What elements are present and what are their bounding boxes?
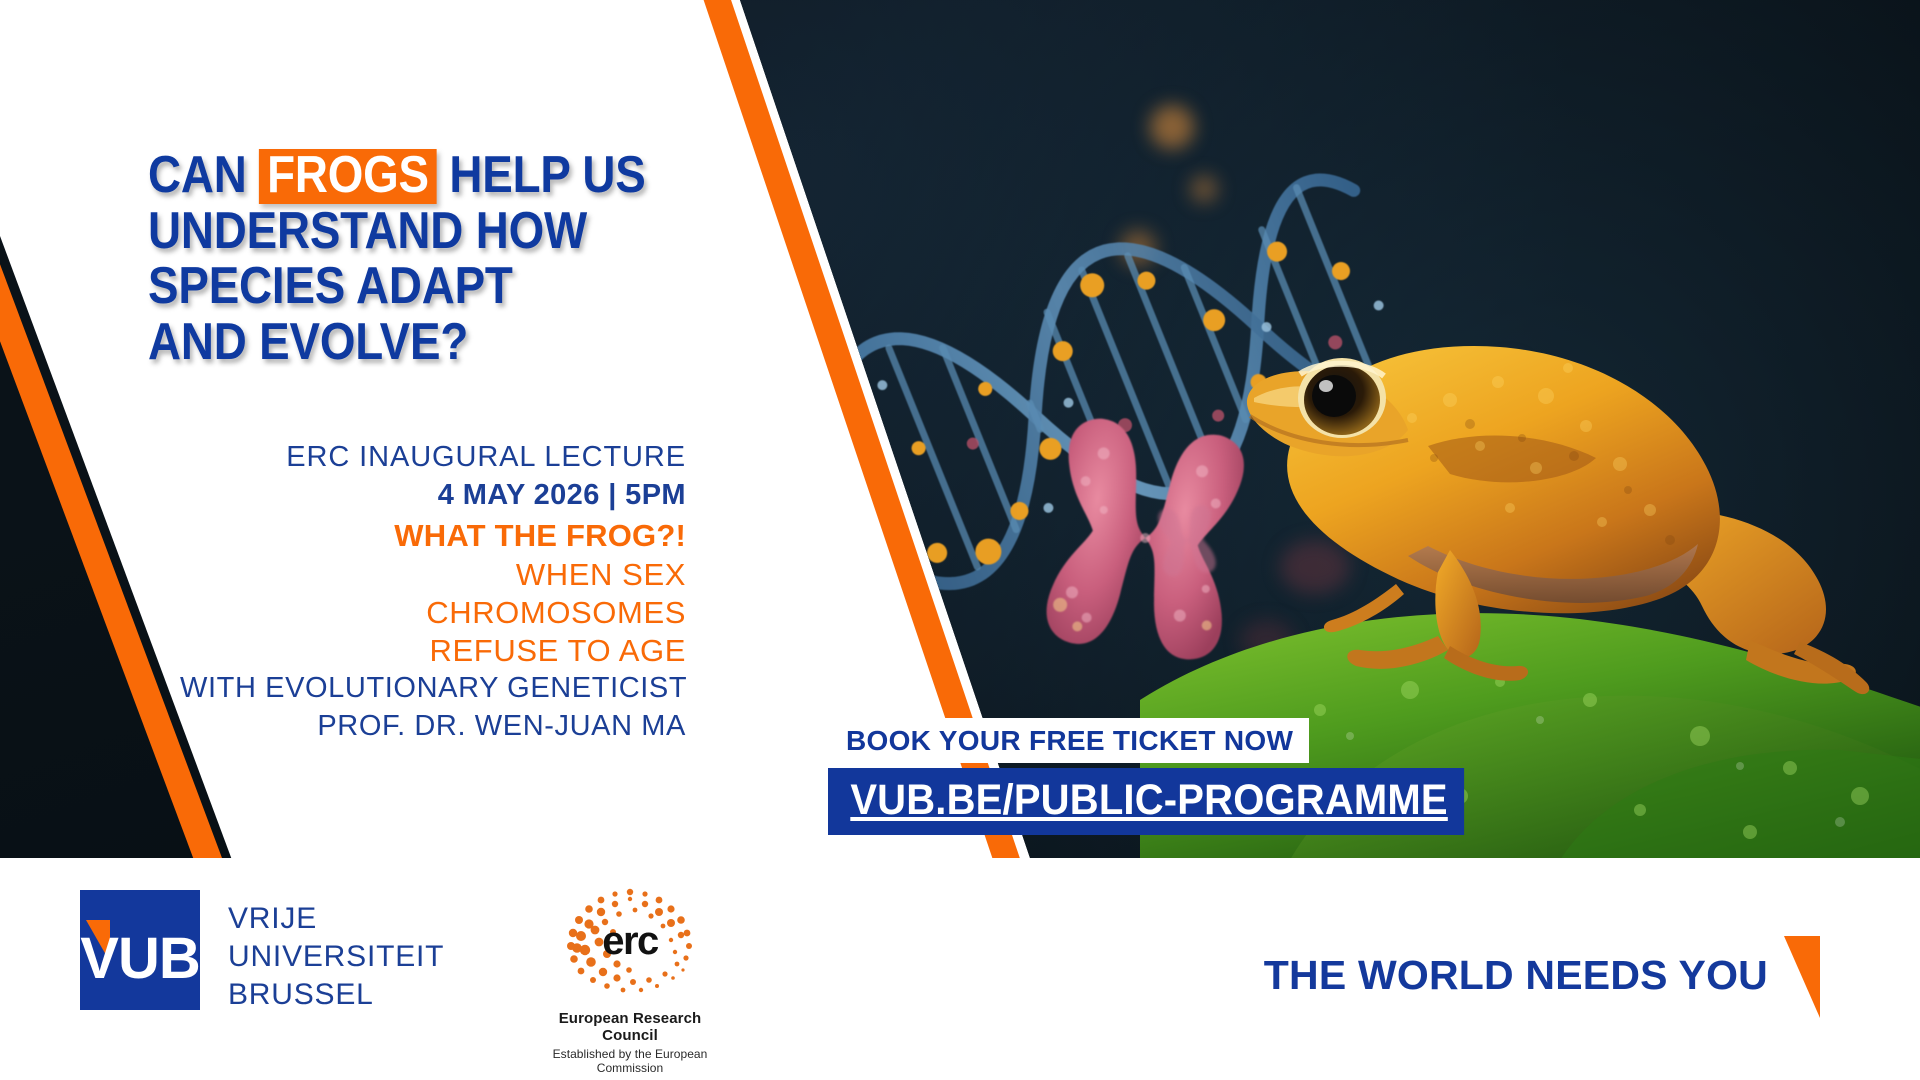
event-date: 4 MAY 2026 | 5PM [180, 476, 686, 514]
book-ticket-label: BOOK YOUR FREE TICKET NOW [828, 718, 1309, 763]
booking-url-button[interactable]: VUB.BE/PUBLIC-PROGRAMME [828, 768, 1465, 835]
frog-illustration [1150, 250, 1920, 730]
erc-logo-mark: erc [555, 882, 705, 1004]
vub-word-2: UNIVERSITEIT [228, 938, 444, 976]
vub-logo: VUB VRIJE UNIVERSITEIT BRUSSEL [80, 890, 444, 1013]
vub-logo-wordmark: VRIJE UNIVERSITEIT BRUSSEL [228, 890, 444, 1013]
vub-word-3: BRUSSEL [228, 976, 444, 1014]
speaker-role: WITH EVOLUTIONARY GENETICIST [180, 670, 686, 708]
event-info-block: ERC INAUGURAL LECTURE 4 MAY 2026 | 5PM W… [180, 438, 686, 745]
svg-text:erc: erc [602, 919, 659, 963]
headline-frogs-highlight: FROGS [259, 149, 437, 204]
svg-text:VUB: VUB [80, 926, 199, 991]
headline-text-after: HELP US [449, 146, 645, 204]
vub-word-1: VRIJE [228, 900, 444, 938]
poster-canvas: CAN FROGS HELP US UNDERSTAND HOW SPECIES… [0, 0, 1920, 1080]
headline-line-3: SPECIES ADAPT [148, 259, 641, 314]
lecture-title: WHAT THE FROG?! [180, 516, 686, 557]
speaker-name: PROF. DR. WEN-JUAN MA [180, 708, 686, 746]
event-kicker: ERC INAUGURAL LECTURE [180, 438, 686, 476]
headline-text-before: CAN [148, 146, 247, 204]
headline-line-2: UNDERSTAND HOW [148, 204, 641, 259]
lecture-subtitle-1: WHEN SEX [180, 556, 686, 594]
tagline-text: THE WORLD NEEDS YOU [1264, 952, 1768, 999]
erc-logo-established: Established by the European Commission [530, 1047, 730, 1075]
headline-line-1: CAN FROGS HELP US [148, 148, 641, 204]
poster-headline: CAN FROGS HELP US UNDERSTAND HOW SPECIES… [148, 148, 641, 370]
lecture-subtitle-3: REFUSE TO AGE [180, 632, 686, 670]
booking-cta[interactable]: BOOK YOUR FREE TICKET NOW VUB.BE/PUBLIC-… [828, 718, 1512, 835]
orange-flag-icon [1784, 936, 1820, 1018]
vub-logo-mark: VUB [80, 890, 200, 1010]
erc-logo-name: European Research Council [530, 1010, 730, 1044]
erc-logo: erc European Research Council Establishe… [530, 882, 730, 1075]
poster-footer: VUB VRIJE UNIVERSITEIT BRUSSEL [0, 858, 1920, 1080]
vub-tagline: THE WORLD NEEDS YOU [1264, 932, 1820, 1018]
headline-line-4: AND EVOLVE? [148, 315, 641, 370]
lecture-subtitle-2: CHROMOSOMES [180, 594, 686, 632]
